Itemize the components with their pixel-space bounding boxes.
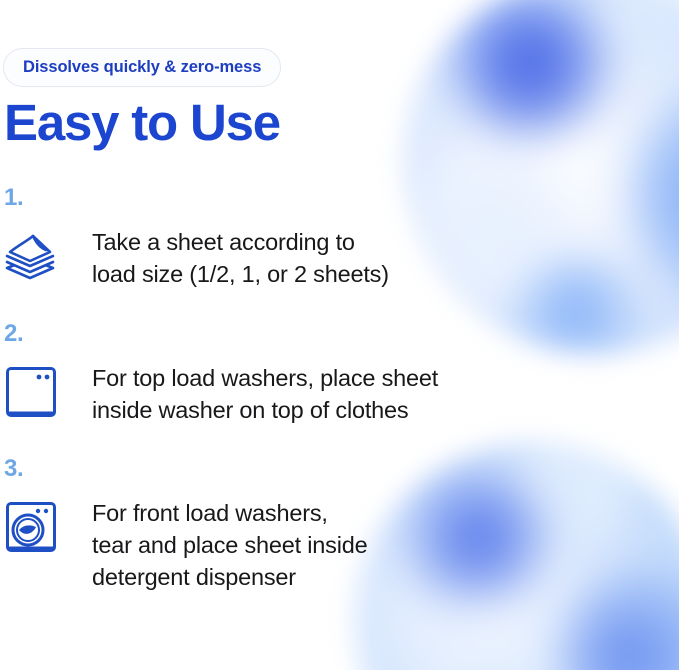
top-load-washer-icon (3, 364, 59, 420)
step-number: 3. (4, 457, 23, 481)
orb-highlight-blob (511, 443, 638, 535)
step-description: For front load washers, tear and place s… (92, 497, 368, 593)
orb-deep-blue-blob (397, 464, 553, 606)
orb-highlight-blob (412, 140, 588, 308)
step-number: 2. (4, 322, 23, 346)
front-load-washer-icon (3, 499, 59, 555)
orb-mid-blue-blob (633, 87, 679, 301)
orb-highlight-blob (419, 648, 589, 670)
step-description: For top load washers, place sheet inside… (92, 362, 438, 426)
bottom-right-blurred-orb (355, 443, 679, 670)
stacked-sheets-icon (3, 228, 59, 284)
top-right-blurred-orb (404, 0, 679, 354)
orb-highlight-blob (595, 0, 679, 87)
orb-mid-blue-blob (511, 255, 641, 354)
promo-graphic: Dissolves quickly & zero-mess Easy to Us… (0, 0, 679, 670)
feature-badge: Dissolves quickly & zero-mess (3, 48, 281, 87)
feature-badge-label: Dissolves quickly & zero-mess (23, 58, 261, 77)
step-description: Take a sheet according to load size (1/2… (92, 226, 389, 290)
orb-mid-blue-blob (560, 570, 679, 670)
orb-deep-blue-blob (442, 0, 618, 140)
page-title: Easy to Use (4, 97, 280, 148)
step-number: 1. (4, 186, 23, 210)
